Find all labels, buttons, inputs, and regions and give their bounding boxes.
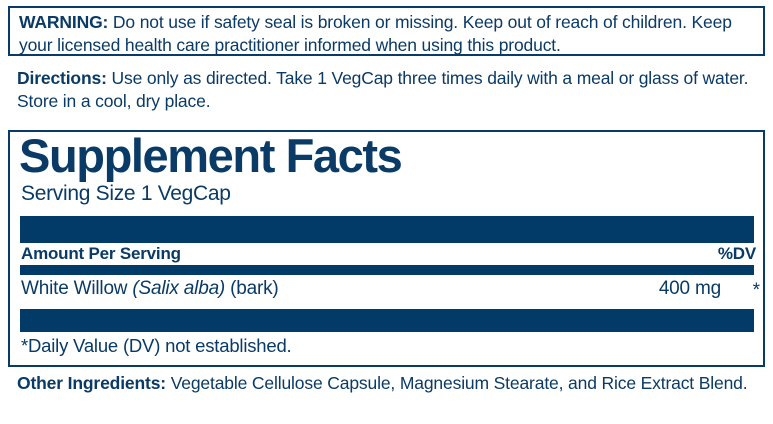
directions-body: Use only as directed. Take 1 VegCap thre… <box>17 68 748 111</box>
serving-size-text: Serving Size 1 VegCap <box>21 182 231 206</box>
other-ingredients-text: Other Ingredients: Vegetable Cellulose C… <box>17 372 762 395</box>
warning-body: Do not use if safety seal is broken or m… <box>19 12 732 55</box>
warning-lead: WARNING: <box>19 12 108 32</box>
warning-text: WARNING: Do not use if safety seal is br… <box>19 11 755 57</box>
directions-lead: Directions: <box>17 68 107 88</box>
supplement-label: WARNING: Do not use if safety seal is br… <box>0 0 773 424</box>
rule-thin-middle <box>20 265 754 275</box>
other-ingredients-block: Other Ingredients: Vegetable Cellulose C… <box>17 372 762 395</box>
nutrient-daily-value: * <box>21 280 760 302</box>
percent-dv-label: %DV <box>718 244 756 264</box>
rule-thick-bottom <box>20 309 754 332</box>
directions-block: Directions: Use only as directed. Take 1… <box>17 67 762 113</box>
supplement-facts-title: Supplement Facts <box>19 131 401 181</box>
other-ingredients-body: Vegetable Cellulose Capsule, Magnesium S… <box>166 373 747 393</box>
rule-thick-top <box>20 216 754 243</box>
table-row: White Willow (Salix alba) (bark) 400 mg … <box>21 278 761 304</box>
supplement-facts-inner: Supplement Facts Serving Size 1 VegCap A… <box>10 132 763 365</box>
warning-box: WARNING: Do not use if safety seal is br… <box>8 6 765 56</box>
other-ingredients-lead: Other Ingredients: <box>17 373 166 393</box>
directions-text: Directions: Use only as directed. Take 1… <box>17 67 762 113</box>
supplement-facts-panel: Supplement Facts Serving Size 1 VegCap A… <box>8 130 765 367</box>
daily-value-footnote: *Daily Value (DV) not established. <box>21 335 292 357</box>
table-header-row: Amount Per Serving %DV <box>21 244 756 265</box>
amount-per-serving-label: Amount Per Serving <box>21 244 181 264</box>
